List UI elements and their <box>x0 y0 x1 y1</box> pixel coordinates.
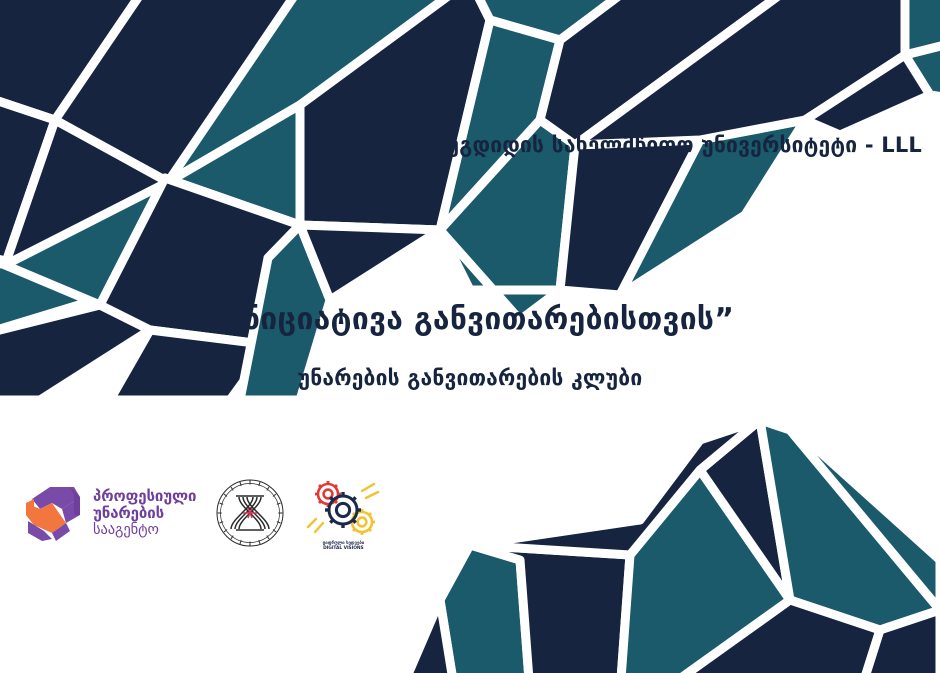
digital-visions-caption: ციფრული ხედვები DIGITAL VISIONS <box>323 541 365 552</box>
psa-line-3: სააგენტო <box>93 522 196 538</box>
psa-wordmark: პროფესიული უნარების სააგენტო <box>93 488 196 538</box>
circular-seal-icon <box>212 475 288 551</box>
polygon-pattern-top-left <box>0 0 940 400</box>
presentation-slide: ზუგდიდის სახელმწიფო უნივერსიტეტი - LLL “… <box>0 0 940 673</box>
slide-subtitle: უნარების განვითარების კლუბი <box>0 366 940 390</box>
psa-line-1: პროფესიული <box>93 488 196 505</box>
slide-main-title: “ინიციატივა განვითარებისთვის” <box>0 302 940 337</box>
clasping-hands-hexagon-icon <box>22 481 84 545</box>
logo-professional-skills-agency: პროფესიული უნარების სააგენტო <box>22 468 196 558</box>
psa-line-2: უნარების <box>93 505 196 522</box>
three-gears-icon <box>304 475 382 541</box>
logo-university-seal <box>212 468 288 558</box>
university-title: ზუგდიდის სახელმწიფო უნივერსიტეტი - LLL <box>435 133 922 157</box>
dv-caption-en: DIGITAL VISIONS <box>323 546 365 552</box>
logo-bar: პროფესიული უნარების სააგენტო <box>22 468 382 558</box>
logo-digital-visions: ციფრული ხედვები DIGITAL VISIONS <box>304 468 382 558</box>
